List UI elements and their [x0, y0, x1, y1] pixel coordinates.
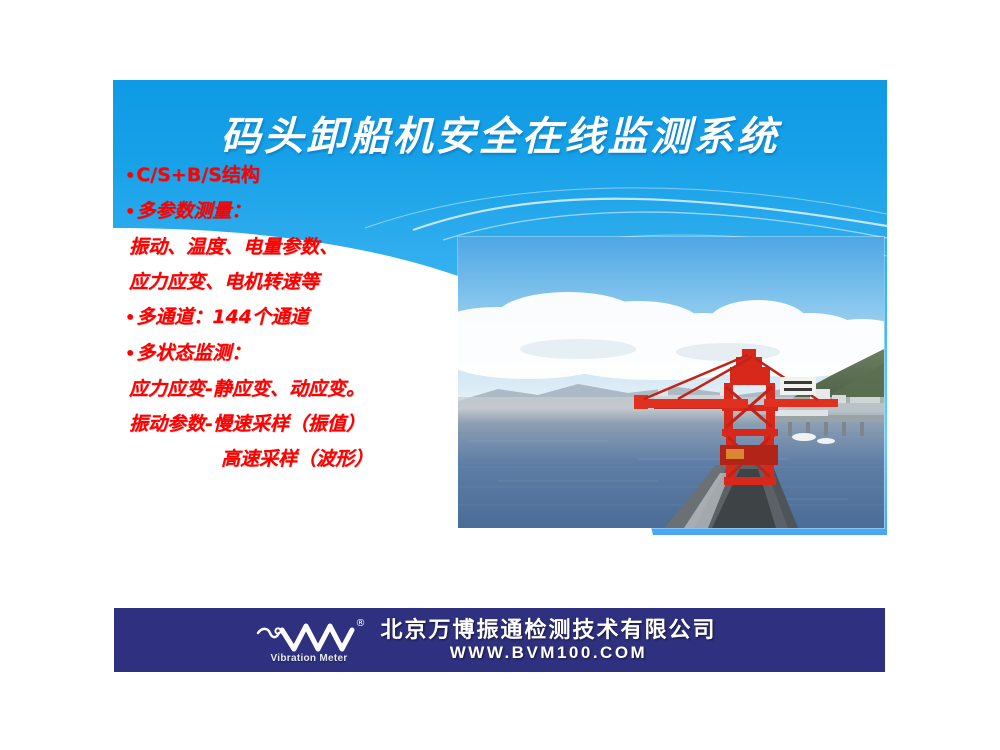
logo-caption: Vibration Meter [270, 653, 347, 664]
bullet-marker: • [125, 344, 135, 363]
bullet-line-text: 高速采样（波形） [221, 448, 373, 470]
bullet-line-text: C/S+B/S结构 [136, 164, 260, 186]
bullet-line-text: 振动参数-慢速采样（振值） [129, 413, 365, 435]
bullet-line-7: 应力应变-静应变、动应变。 [125, 380, 485, 399]
bullet-line-6: •多状态监测： [125, 344, 485, 363]
bullet-line-text: 多状态监测： [136, 342, 250, 364]
company-name: 北京万博振通检测技术有限公司 [380, 619, 716, 642]
bullet-marker: • [125, 166, 135, 185]
bullet-list: •C/S+B/S结构 •多参数测量： 振动、温度、电量参数、 应力应变、电机转速… [125, 166, 485, 485]
bullet-line-1: •C/S+B/S结构 [125, 166, 485, 185]
bullet-marker: • [125, 308, 135, 327]
bullet-line-9: 高速采样（波形） [125, 450, 485, 469]
dock-crane-photo [458, 237, 884, 528]
footer-brand-bar: ® Vibration Meter 北京万博振通检测技术有限公司 WWW.BVM… [114, 608, 885, 672]
vibration-meter-logo-icon: ® Vibration Meter [254, 617, 366, 663]
bullet-line-2: •多参数测量： [125, 202, 485, 221]
registered-trademark-icon: ® [355, 618, 365, 629]
slide-root: 码头卸船机安全在线监测系统 •C/S+B/S结构 •多参数测量： 振动、温度、电… [0, 0, 1000, 750]
bullet-line-text: 多参数测量： [136, 200, 250, 222]
slide-title: 码头卸船机安全在线监测系统 [113, 104, 887, 162]
bullet-line-text: 应力应变-静应变、动应变。 [129, 378, 365, 400]
bullet-line-text: 振动、温度、电量参数、 [129, 236, 338, 258]
bullet-marker: • [125, 202, 135, 221]
footer-content: ® Vibration Meter 北京万博振通检测技术有限公司 WWW.BVM… [254, 617, 716, 663]
bullet-line-text: 应力应变、电机转速等 [129, 271, 319, 293]
slide-content-area: 码头卸船机安全在线监测系统 •C/S+B/S结构 •多参数测量： 振动、温度、电… [113, 80, 887, 535]
bullet-line-5: •多通道：144个通道 [125, 308, 485, 327]
bullet-line-8: 振动参数-慢速采样（振值） [125, 415, 485, 434]
company-website-url[interactable]: WWW.BVM100.COM [450, 644, 647, 662]
bullet-line-text: 多通道：144个通道 [136, 306, 309, 328]
footer-text-block: 北京万博振通检测技术有限公司 WWW.BVM100.COM [380, 619, 716, 662]
bullet-line-3: 振动、温度、电量参数、 [125, 238, 485, 257]
bullet-line-4: 应力应变、电机转速等 [125, 273, 485, 292]
